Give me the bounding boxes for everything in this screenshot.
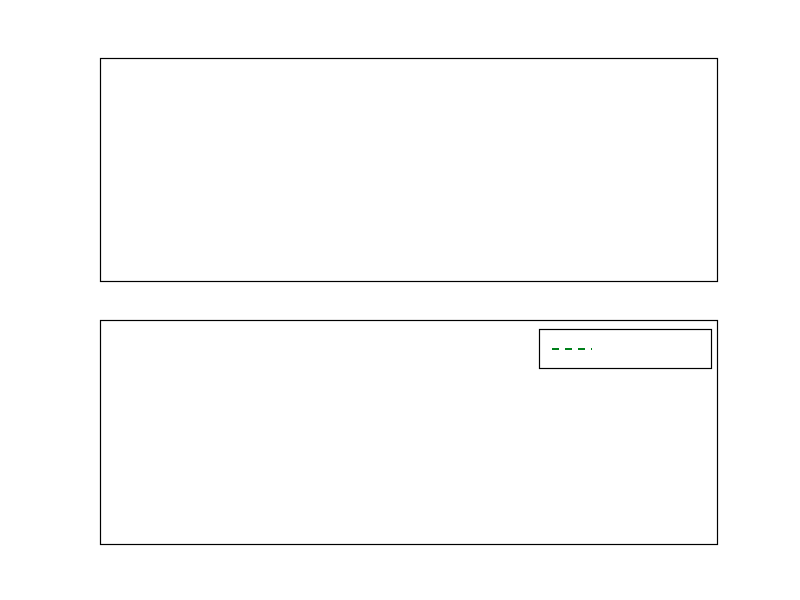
figure-canvas bbox=[0, 0, 800, 600]
top-panel-frame bbox=[101, 59, 718, 282]
legend bbox=[540, 330, 712, 369]
bottom-panel-axes bbox=[0, 0, 718, 545]
matplotlib-figure bbox=[0, 0, 800, 600]
top-panel-axes bbox=[101, 59, 718, 282]
